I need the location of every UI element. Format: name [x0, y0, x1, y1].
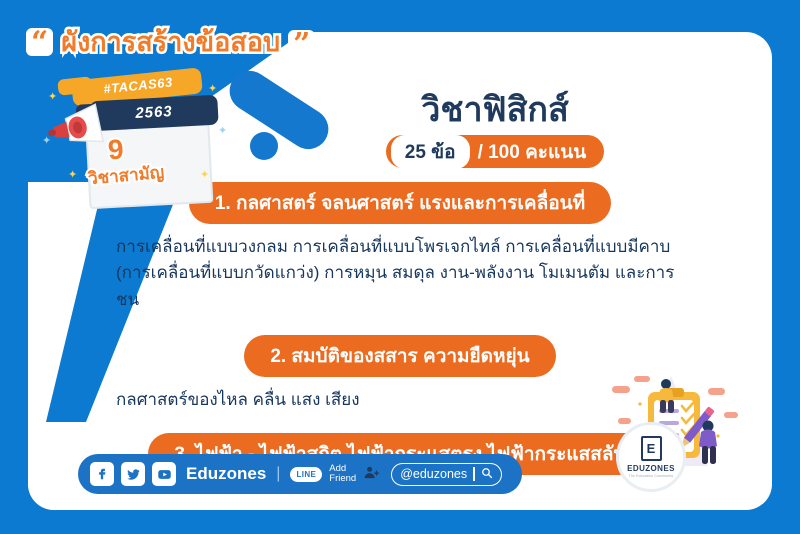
youtube-icon[interactable] — [152, 462, 176, 486]
close-quote-icon: ” — [288, 30, 315, 58]
open-quote-icon: “ — [26, 28, 53, 56]
social-footer-bar: Eduzones | LINE Add Friend @eduzones — [78, 454, 522, 494]
add-friend-line2: Friend — [329, 473, 356, 484]
section-1-heading: 1. กลศาสตร์ จลนศาสตร์ แรงและการเคลื่อนที… — [189, 182, 611, 224]
brand-name: Eduzones — [186, 464, 266, 484]
handle-search[interactable]: @eduzones — [391, 463, 501, 486]
header-title: ผังการสร้างข้อสอบ — [61, 28, 280, 58]
sparkle-icon: ✦ — [48, 90, 57, 103]
handle-text: @eduzones — [400, 467, 467, 481]
question-count: 25 ข้อ — [391, 135, 470, 169]
total-score: / 100 คะแนน — [478, 137, 587, 167]
sparkle-icon: ✦ — [208, 82, 217, 95]
poster-header: “ ผังการสร้างข้อสอบ ” — [26, 28, 315, 58]
circle-decoration — [250, 132, 278, 160]
eduzones-logo: E EDUZONES The Education Community — [616, 422, 686, 492]
search-divider — [473, 467, 474, 481]
section-1-body: การเคลื่อนที่แบบวงกลม การเคลื่อนที่แบบโพ… — [28, 224, 772, 313]
search-icon[interactable] — [481, 467, 493, 482]
logo-letter: E — [641, 436, 662, 461]
tcas-badge: #TACAS63 2563 9 วิชาสามัญ ✦ ✦ ✦ ✦ ✦ ✦ — [42, 72, 232, 207]
add-person-icon[interactable] — [363, 465, 380, 484]
sparkle-icon: ✦ — [42, 134, 51, 147]
facebook-icon[interactable] — [90, 462, 114, 486]
sparkle-icon: ✦ — [218, 124, 227, 137]
footer-divider: | — [276, 465, 280, 483]
sparkle-icon: ✦ — [68, 168, 77, 181]
logo-tagline: The Education Community — [629, 474, 674, 478]
sparkle-icon: ✦ — [200, 168, 209, 181]
logo-name: EDUZONES — [627, 464, 675, 473]
twitter-icon[interactable] — [121, 462, 145, 486]
add-friend-label[interactable]: Add Friend — [329, 464, 356, 484]
section-2-heading: 2. สมบัติของสสาร ความยืดหยุ่น — [244, 335, 555, 377]
line-icon[interactable]: LINE — [290, 467, 322, 482]
poster-background: วิชาฟิสิกส์ 25 ข้อ / 100 คะแนน 1. กลศาสต… — [0, 0, 800, 534]
